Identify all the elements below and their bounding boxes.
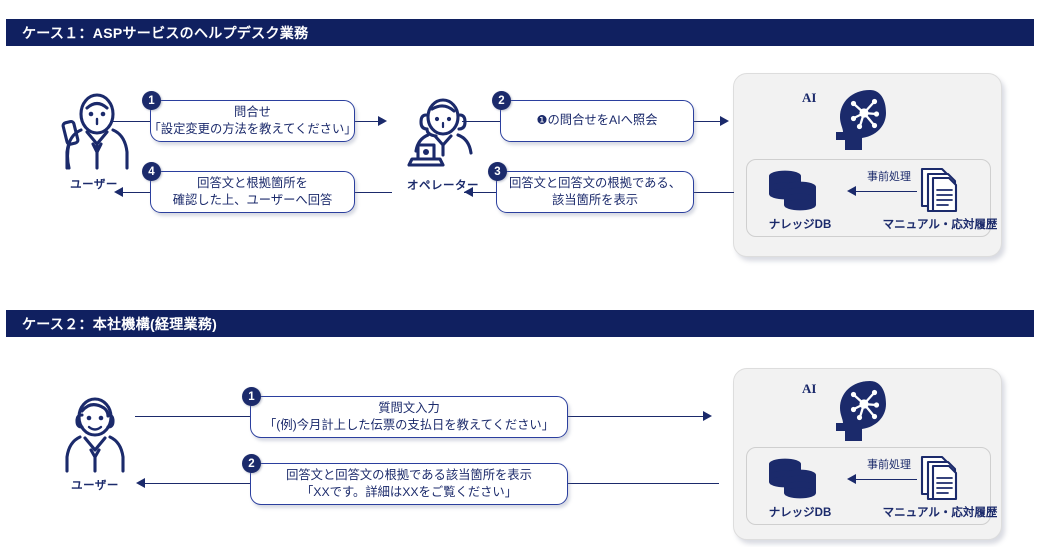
case2-line-user-to-step1 <box>135 416 250 417</box>
case2-header-bar: ケース２：本社機構(経理業務) <box>6 310 1034 337</box>
case2-ai-panel: AI <box>733 368 1002 540</box>
case2-db-label: ナレッジDB <box>755 504 845 520</box>
case1-step4-badge: 4 <box>142 162 161 181</box>
case2-arrow-to-user <box>136 478 145 488</box>
case1-step1-line1: 問合せ <box>234 104 271 121</box>
case1-line-step4-to-user <box>118 192 154 193</box>
case2-step1-line1: 質問文入力 <box>378 400 440 417</box>
case2-header-title: ケース２：本社機構(経理業務) <box>6 314 217 334</box>
documents-stack-icon <box>919 166 961 214</box>
case1-line-step2-to-ai <box>692 121 722 122</box>
case2-actor-user: ユーザー <box>40 393 150 493</box>
case1-arrow-to-user <box>114 187 123 197</box>
case1-header-title: ケース１：ASPサービスのヘルプデスク業務 <box>6 23 308 43</box>
case1-ai-title: AI <box>802 90 816 106</box>
case1-preprocess-arrow <box>847 186 856 196</box>
case1-step4-line2: 確認した上、ユーザーへ回答 <box>173 192 333 209</box>
case1-arrow-to-operator <box>378 116 387 126</box>
case1-step1-badge: 1 <box>142 91 161 110</box>
case2-line-ai-to-step2 <box>567 483 719 484</box>
case1-line-operator-to-step4 <box>352 192 392 193</box>
database-stack-icon <box>767 169 821 213</box>
case2-knowledge-box: ナレッジDB 事前処理 マニュアル・応対履歴 <box>746 447 991 525</box>
case2-arrow-to-ai <box>703 411 712 421</box>
case1-ai-panel: AI <box>733 73 1002 257</box>
case2-step1-line2: 「(例)今月計上した伝票の支払日を教えてください」 <box>264 417 554 434</box>
case1-process-label: 事前処理 <box>867 168 911 184</box>
user-person-icon <box>58 393 132 475</box>
case2-process-label: 事前処理 <box>867 456 911 472</box>
case2-line-step1-to-ai <box>567 416 707 417</box>
user-with-phone-icon <box>57 92 131 174</box>
case2-step1-box[interactable]: 1 質問文入力 「(例)今月計上した伝票の支払日を教えてください」 <box>250 396 568 438</box>
case2-preprocess-arrow <box>847 474 856 484</box>
case2-step1-badge: 1 <box>242 387 261 406</box>
operator-headset-laptop-icon <box>404 95 482 175</box>
case1-line-ai-to-step3 <box>692 192 734 193</box>
case2-step2-line2: 「XXです。詳細はXXをご覧ください」 <box>301 484 517 501</box>
case1-step2-line1: ❶の問合せをAIへ照会 <box>536 112 657 129</box>
case1-step2-badge: 2 <box>492 91 511 110</box>
case1-operator-label: オペレーター <box>388 177 498 193</box>
case1-actor-user: ユーザー <box>39 92 149 192</box>
case1-step3-box[interactable]: 3 回答文と回答文の根拠である、 該当箇所を表示 <box>496 171 694 213</box>
case1-actor-operator: オペレーター <box>388 95 498 193</box>
case2-user-label: ユーザー <box>40 477 150 493</box>
case2-preprocess-line <box>855 479 917 480</box>
case1-line-operator-to-step2 <box>462 121 504 122</box>
case1-db-label: ナレッジDB <box>755 216 845 232</box>
case1-arrow-to-ai <box>720 116 729 126</box>
case1-line-user-to-step1 <box>110 121 152 122</box>
documents-stack-icon <box>919 454 961 502</box>
case1-step3-line2: 該当箇所を表示 <box>552 192 638 209</box>
case2-line-step2-to-user <box>142 483 252 484</box>
case1-arrow-to-operator-back <box>464 187 473 197</box>
case1-knowledge-box: ナレッジDB 事前処理 マニュアル・応対履歴 <box>746 159 991 237</box>
case1-step1-line2: 「設定変更の方法を教えてください」 <box>148 121 356 138</box>
case2-step2-badge: 2 <box>242 454 261 473</box>
case1-step2-box[interactable]: 2 ❶の問合せをAIへ照会 <box>500 100 694 142</box>
case1-preprocess-line <box>855 191 917 192</box>
database-stack-icon <box>767 457 821 501</box>
case1-docs-label: マニュアル・応対履歴 <box>875 216 1005 232</box>
case1-step4-line1: 回答文と根拠箇所を <box>197 175 308 192</box>
case1-step1-box[interactable]: 1 問合せ 「設定変更の方法を教えてください」 <box>150 100 355 142</box>
case1-header-bar: ケース１：ASPサービスのヘルプデスク業務 <box>6 19 1034 46</box>
ai-brain-head-icon <box>830 86 896 154</box>
case2-step2-box[interactable]: 2 回答文と回答文の根拠である該当箇所を表示 「XXです。詳細はXXをご覧くださ… <box>250 463 568 505</box>
case1-step3-line1: 回答文と回答文の根拠である、 <box>509 175 681 192</box>
ai-brain-head-icon <box>830 377 896 445</box>
case2-ai-title: AI <box>802 381 816 397</box>
case1-ai-head-wrap <box>830 86 896 159</box>
case1-step3-badge: 3 <box>488 162 507 181</box>
case2-ai-head-wrap <box>830 377 896 450</box>
case2-docs-label: マニュアル・応対履歴 <box>875 504 1005 520</box>
case2-step2-line1: 回答文と回答文の根拠である該当箇所を表示 <box>286 467 532 484</box>
case1-user-label: ユーザー <box>39 176 149 192</box>
case1-step4-box[interactable]: 4 回答文と根拠箇所を 確認した上、ユーザーへ回答 <box>150 171 355 213</box>
diagram-page: ケース１：ASPサービスのヘルプデスク業務 ユーザー <box>0 0 1040 547</box>
